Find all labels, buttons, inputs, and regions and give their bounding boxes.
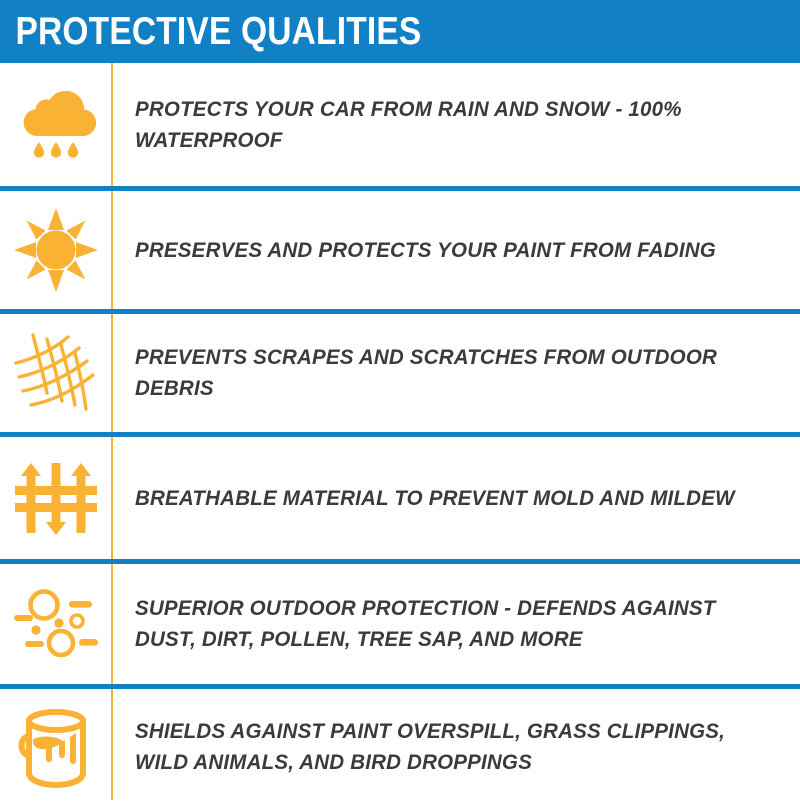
feature-text: PROTECTS YOUR CAR FROM RAIN AND SNOW - 1…	[135, 94, 757, 155]
icon-cell	[0, 581, 111, 667]
icon-cell	[0, 703, 111, 791]
scratch-mesh-icon	[11, 329, 101, 417]
icon-cell	[0, 206, 111, 294]
feature-row-scratch-resistant: PREVENTS SCRAPES AND SCRATCHES FROM OUTD…	[0, 314, 800, 432]
icon-cell	[0, 455, 111, 541]
feature-row-waterproof: PROTECTS YOUR CAR FROM RAIN AND SNOW - 1…	[0, 63, 800, 186]
feature-text: BREATHABLE MATERIAL TO PREVENT MOLD AND …	[135, 483, 757, 514]
row-divider	[0, 684, 800, 689]
text-cell: SHIELDS AGAINST PAINT OVERSPILL, GRASS C…	[111, 716, 800, 777]
feature-row-dust-protection: SUPERIOR OUTDOOR PROTECTION - DEFENDS AG…	[0, 564, 800, 684]
feature-text: SHIELDS AGAINST PAINT OVERSPILL, GRASS C…	[135, 716, 757, 777]
row-divider	[0, 432, 800, 437]
icon-cell	[0, 82, 111, 168]
text-cell: PROTECTS YOUR CAR FROM RAIN AND SNOW - 1…	[111, 94, 800, 155]
feature-row-uv-fade: PRESERVES AND PROTECTS YOUR PAINT FROM F…	[0, 191, 800, 309]
row-divider	[0, 309, 800, 314]
rain-cloud-icon	[13, 82, 99, 168]
paint-can-icon	[13, 703, 99, 791]
breathable-airflow-arrows-icon	[13, 455, 99, 541]
feature-text: PRESERVES AND PROTECTS YOUR PAINT FROM F…	[135, 235, 757, 266]
text-cell: BREATHABLE MATERIAL TO PREVENT MOLD AND …	[111, 483, 800, 514]
protective-qualities-infographic: PROTECTIVE QUALITIES PROTECTS YOUR CAR F…	[0, 0, 800, 800]
text-cell: PRESERVES AND PROTECTS YOUR PAINT FROM F…	[111, 235, 800, 266]
feature-text: PREVENTS SCRAPES AND SCRATCHES FROM OUTD…	[135, 342, 757, 403]
feature-list: PROTECTS YOUR CAR FROM RAIN AND SNOW - 1…	[0, 63, 800, 800]
page-title: PROTECTIVE QUALITIES	[0, 12, 421, 51]
text-cell: SUPERIOR OUTDOOR PROTECTION - DEFENDS AG…	[111, 593, 800, 654]
header-bar: PROTECTIVE QUALITIES	[0, 0, 800, 63]
dust-particles-icon	[11, 581, 101, 667]
icon-cell	[0, 329, 111, 417]
row-divider	[0, 559, 800, 564]
feature-text: SUPERIOR OUTDOOR PROTECTION - DEFENDS AG…	[135, 593, 757, 654]
feature-row-paint-overspill: SHIELDS AGAINST PAINT OVERSPILL, GRASS C…	[0, 689, 800, 805]
text-cell: PREVENTS SCRAPES AND SCRATCHES FROM OUTD…	[111, 342, 800, 403]
feature-row-breathable: BREATHABLE MATERIAL TO PREVENT MOLD AND …	[0, 437, 800, 559]
sun-icon	[12, 206, 100, 294]
row-divider	[0, 186, 800, 191]
